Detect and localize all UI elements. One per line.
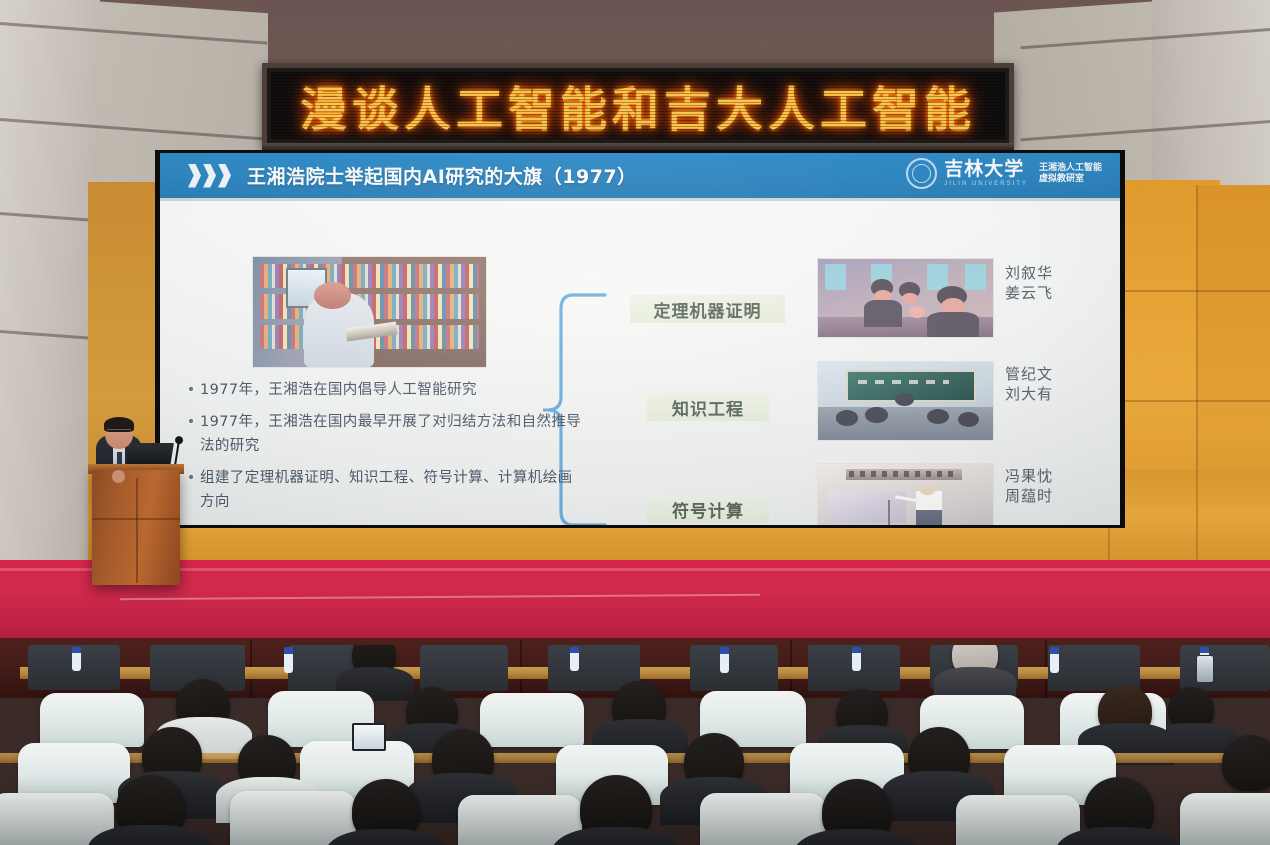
- led-banner-display: 漫谈人工智能和吉大人工智能: [271, 72, 1005, 139]
- slide-header-bar: 王湘浩院士举起国内AI研究的大旗（1977） 吉林大学 JILIN UNIVER…: [160, 153, 1120, 198]
- lab-name-line2: 虚拟教研室: [1039, 174, 1102, 184]
- group-meeting-photo: [817, 258, 994, 338]
- wall-panel-seam: [1108, 290, 1270, 292]
- university-brand: 吉林大学 JILIN UNIVERSITY 王湘浩人工智能 虚拟教研室: [906, 158, 1102, 189]
- front-row-chair[interactable]: [1180, 645, 1270, 691]
- projection-screen: 王湘浩院士举起国内AI研究的大旗（1977） 吉林大学 JILIN UNIVER…: [160, 153, 1120, 525]
- lecture-hall-scene: 漫谈人工智能和吉大人工智能 王湘浩院士举起国内AI研究的大旗（1977） 吉林大…: [0, 0, 1270, 845]
- bullet-text: 组建了定理机器证明、知识工程、符号计算、计算机绘画方向: [200, 467, 582, 514]
- covered-chair-icon[interactable]: [40, 693, 144, 747]
- category-label-2: 知识工程: [647, 393, 769, 421]
- bullet-marker: •: [182, 379, 200, 402]
- person-name: 管纪文: [1005, 364, 1053, 384]
- water-bottle-icon: [72, 647, 81, 671]
- water-bottle-icon: [720, 647, 729, 673]
- front-row-chair[interactable]: [690, 645, 778, 691]
- slide-title: 王湘浩院士举起国内AI研究的大旗（1977）: [247, 162, 637, 189]
- university-name-en: JILIN UNIVERSITY: [944, 181, 1028, 187]
- glasses-icon: [107, 429, 131, 435]
- person-name: 姜云飞: [1005, 283, 1053, 303]
- category-people-2: 管纪文 刘大有: [1005, 364, 1053, 405]
- water-bottle-icon: [284, 647, 293, 673]
- led-banner-text: 漫谈人工智能和吉大人工智能: [300, 72, 976, 139]
- jilin-university-seal-icon: [906, 158, 937, 189]
- category-label-1: 定理机器证明: [630, 295, 785, 323]
- slide-bullet-list: • 1977年，王湘浩在国内倡导人工智能研究 • 1977年，王湘浩在国内最早开…: [182, 379, 582, 523]
- lab-name: 王湘浩人工智能 虚拟教研室: [1039, 163, 1102, 184]
- lecture-blackboard-photo: [817, 361, 994, 441]
- university-name: 吉林大学 JILIN UNIVERSITY: [944, 160, 1028, 187]
- front-row-chair[interactable]: [420, 645, 508, 691]
- bullet-item: • 1977年，王湘浩在国内最早开展了对归结方法和自然推导法的研究: [182, 411, 582, 458]
- lab-name-line1: 王湘浩人工智能: [1039, 163, 1102, 173]
- person-name: 刘大有: [1005, 384, 1053, 404]
- water-bottle-icon: [570, 647, 579, 671]
- stage-floor: [0, 560, 1270, 650]
- university-name-cn: 吉林大学: [944, 160, 1028, 179]
- led-banner: 漫谈人工智能和吉大人工智能: [262, 63, 1014, 148]
- tablet-screen-icon: [352, 723, 386, 751]
- bullet-text: 1977年，王湘浩在国内最早开展了对归结方法和自然推导法的研究: [200, 411, 582, 458]
- wall-panel-seam: [1108, 400, 1270, 402]
- chevron-right-triple-icon: [188, 164, 231, 188]
- slide-body: 定理机器证明 知识工程 符号计算: [160, 201, 1120, 525]
- person-name: 冯果忱: [1005, 466, 1053, 486]
- person-name: 刘叙华: [1005, 263, 1053, 283]
- covered-chair-icon[interactable]: [480, 693, 584, 747]
- bullet-item: • 1977年，王湘浩在国内倡导人工智能研究: [182, 379, 582, 402]
- audience-area: [0, 645, 1270, 845]
- seminar-presentation-photo: [817, 463, 994, 525]
- hall-left-column: [0, 0, 100, 560]
- smartphone-recording-icon: [1196, 655, 1214, 683]
- bullet-marker: •: [182, 411, 200, 458]
- covered-chair-icon[interactable]: [956, 795, 1080, 845]
- person-name: 周蕴时: [1005, 486, 1053, 506]
- led-banner-frame-bottom: [262, 143, 1014, 150]
- category-label-3: 符号计算: [647, 495, 769, 523]
- wang-xianghao-library-photo: [252, 256, 487, 368]
- attendee-head: [1222, 735, 1270, 791]
- bullet-text: 1977年，王湘浩在国内倡导人工智能研究: [200, 379, 582, 402]
- category-people-3: 冯果忱 周蕴时: [1005, 466, 1053, 507]
- category-people-1: 刘叙华 姜云飞: [1005, 263, 1053, 304]
- bullet-marker: •: [182, 467, 200, 514]
- water-bottle-icon: [852, 647, 861, 671]
- covered-chair-icon[interactable]: [1180, 793, 1270, 845]
- wall-panel-seam: [1196, 185, 1198, 585]
- bullet-item: • 组建了定理机器证明、知识工程、符号计算、计算机绘画方向: [182, 467, 582, 514]
- water-bottle-icon: [1050, 647, 1059, 673]
